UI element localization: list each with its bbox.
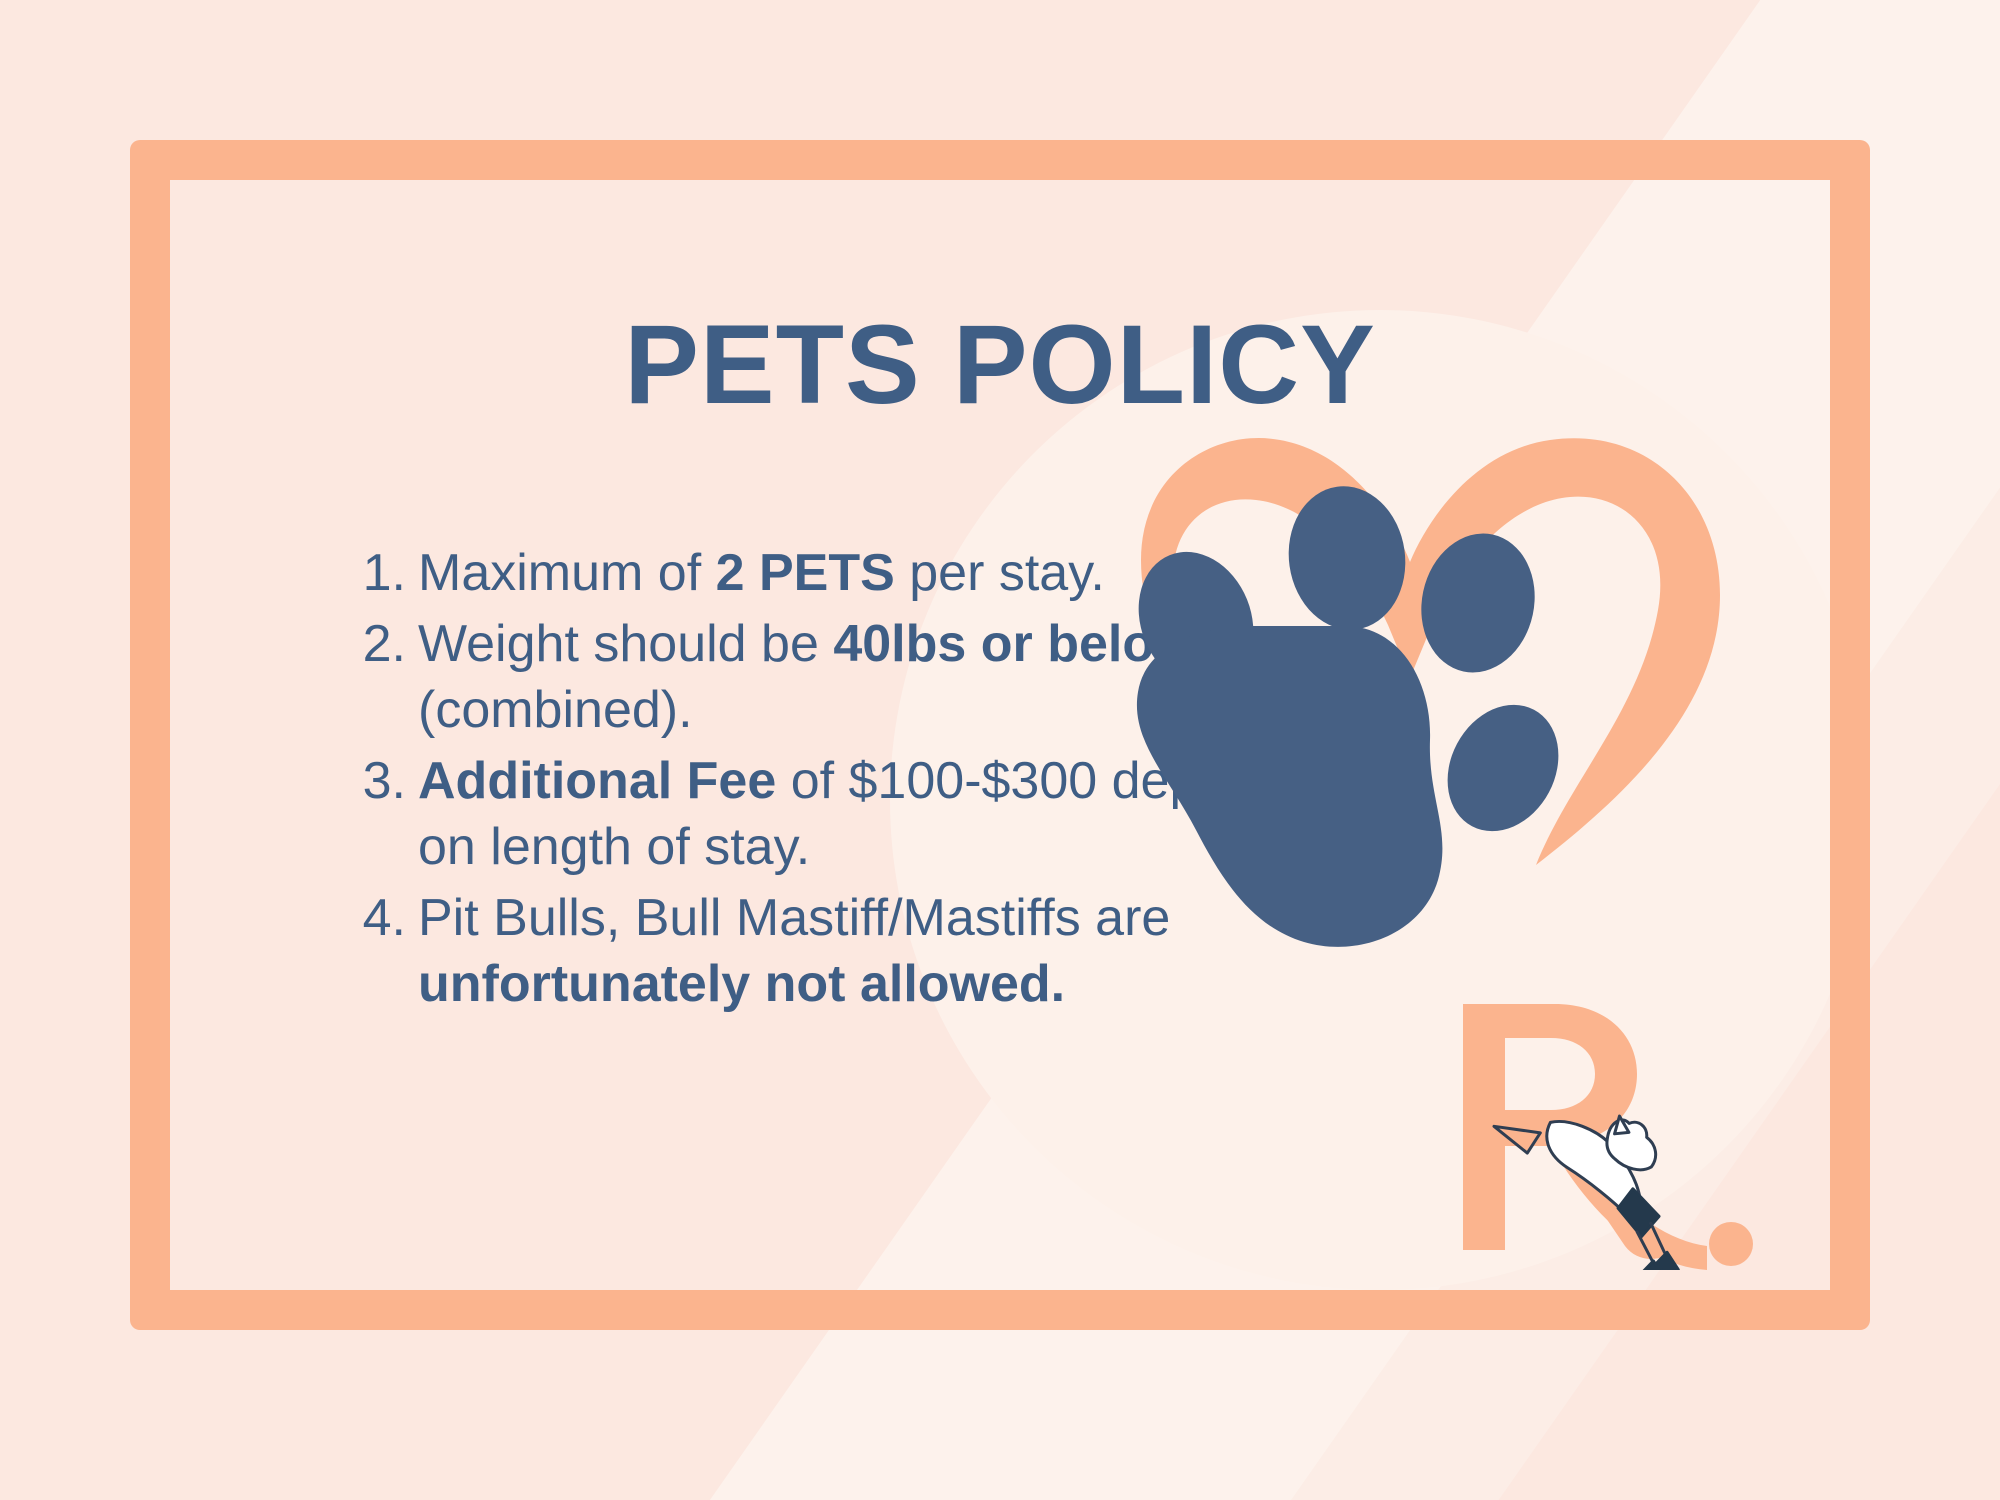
- text-emphasis: 2 PETS: [716, 544, 895, 602]
- poster-border-frame: PETS POLICY 1. Maximum of 2 PETS per sta…: [130, 140, 1870, 1330]
- text-emphasis: unfortunately not allowed.: [418, 955, 1065, 1013]
- text-plain-before: Pit Bulls, Bull Mastiff/Mastiffs are: [418, 889, 1170, 947]
- list-item-number: 4.: [360, 885, 418, 952]
- paw-pad: [1137, 626, 1442, 947]
- list-item-number: 3.: [360, 748, 418, 815]
- text-plain-after: (combined).: [418, 681, 693, 739]
- list-item-number: 2.: [360, 611, 418, 678]
- logo-dot: [1709, 1222, 1753, 1266]
- brand-logo: [1445, 990, 1775, 1270]
- text-plain-before: Weight should be: [418, 615, 833, 673]
- paw-print-icon: [1100, 410, 1820, 1050]
- list-item-number: 1.: [360, 540, 418, 607]
- text-plain-before: Maximum of: [418, 544, 716, 602]
- text-plain-after: per stay.: [895, 544, 1105, 602]
- text-emphasis: Additional Fee: [418, 752, 776, 810]
- poster-content-area: PETS POLICY 1. Maximum of 2 PETS per sta…: [170, 180, 1830, 1290]
